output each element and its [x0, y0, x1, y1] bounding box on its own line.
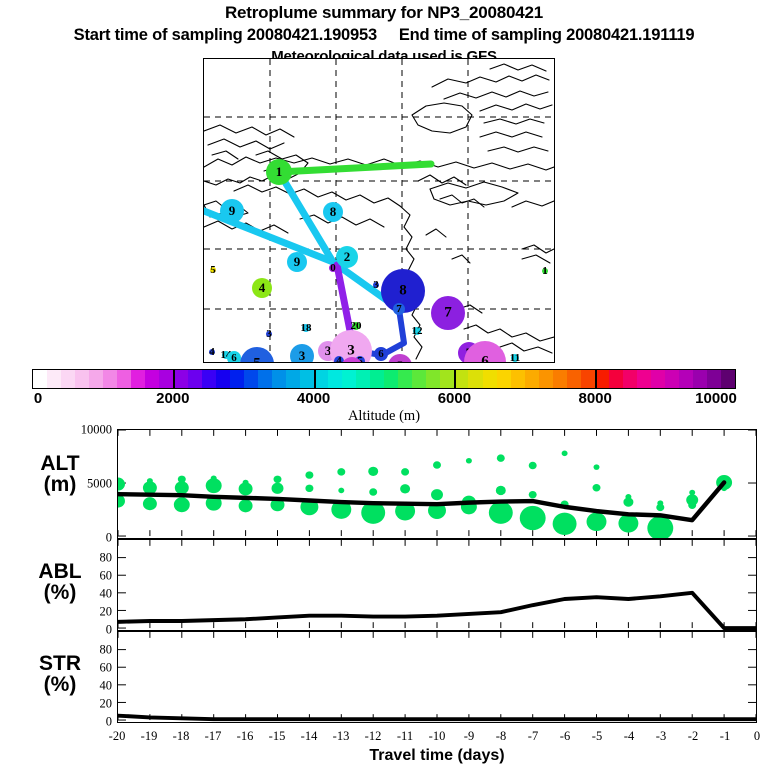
abl-y-tick-label: 60: [54, 569, 112, 584]
str-panel[interactable]: [117, 631, 757, 723]
colorbar-division: [314, 369, 316, 389]
colorbar-swatch: [483, 370, 497, 388]
colorbar-swatch: [47, 370, 61, 388]
colorbar-swatch: [665, 370, 679, 388]
colorbar-swatch: [553, 370, 567, 388]
str-y-tick-label: 20: [54, 697, 112, 712]
colorbar-swatch: [426, 370, 440, 388]
colorbar-swatch: [117, 370, 131, 388]
map-marker-dot: [266, 331, 272, 337]
map-marker-dot: [336, 246, 358, 268]
alt-scatter-blob: [338, 488, 344, 494]
colorbar-swatch: [398, 370, 412, 388]
map-marker-dot: [393, 303, 405, 315]
colorbar-swatch: [145, 370, 159, 388]
alt-scatter-blob: [497, 454, 505, 461]
x-tick-label: -5: [592, 729, 602, 744]
alt-scatter-blob: [272, 483, 284, 494]
map-marker-dot: [431, 296, 465, 330]
colorbar-swatch: [230, 370, 244, 388]
alt-scatter-blob: [529, 462, 537, 469]
alt-scatter-blob: [337, 468, 345, 475]
x-tick-label: -8: [496, 729, 506, 744]
colorbar-swatch: [440, 370, 454, 388]
map-coastlines: [204, 64, 554, 359]
map-marker-dot: [373, 282, 379, 288]
str-y-tick-label: 40: [54, 679, 112, 694]
alt-scatter-blob: [647, 516, 673, 538]
x-tick-label: -13: [333, 729, 350, 744]
str-y-ticks: [118, 650, 756, 720]
x-tick-label: -18: [173, 729, 190, 744]
x-tick-label: -16: [237, 729, 254, 744]
alt-scatter-blob: [657, 500, 663, 506]
abl-plot: [118, 540, 756, 630]
colorbar-swatch: [33, 370, 47, 388]
colorbar-swatch: [497, 370, 511, 388]
alt-scatter-blob: [274, 476, 282, 483]
alt-scatter-blob: [466, 458, 472, 464]
map-gridlines: [204, 59, 554, 362]
colorbar-swatch: [89, 370, 103, 388]
page-title: Retroplume summary for NP3_20080421: [0, 3, 768, 23]
map-canvas: [204, 59, 554, 362]
x-tick-label: -20: [109, 729, 126, 744]
x-tick-label: -3: [656, 729, 666, 744]
colorbar-swatch: [454, 370, 468, 388]
x-tick-label: -11: [397, 729, 413, 744]
colorbar-swatch: [258, 370, 272, 388]
abl-panel[interactable]: [117, 539, 757, 631]
map-marker-dot: [210, 267, 216, 273]
alt-scatter-blob: [489, 502, 513, 524]
colorbar-tick-label: 8000: [579, 390, 612, 407]
colorbar-division: [454, 369, 456, 389]
colorbar-swatch: [173, 370, 187, 388]
colorbar-swatch: [300, 370, 314, 388]
alt-scatter-blob: [239, 499, 253, 512]
colorbar-division: [595, 369, 597, 389]
x-axis-title: Travel time (days): [117, 747, 757, 765]
alt-scatter-blob: [178, 476, 186, 483]
alt-scatter-blob: [625, 494, 631, 500]
x-tick-label: -1: [720, 729, 730, 744]
alt-scatter-blob: [433, 461, 441, 468]
map-marker-dot: [511, 354, 519, 362]
colorbar-swatch: [693, 370, 707, 388]
sampling-times-line: Start time of sampling 20080421.190953 E…: [0, 26, 768, 45]
colorbar-gradient: [32, 369, 736, 389]
alt-scatter-blob: [562, 451, 568, 457]
colorbar-swatch: [286, 370, 300, 388]
map-marker-dot: [352, 322, 360, 330]
alt-scatter-blob: [211, 475, 217, 481]
map-marker-dot: [287, 252, 307, 272]
alt-scatter-blob: [305, 485, 313, 492]
abl-y-tick-label: 40: [54, 587, 112, 602]
alt-scatter-points: [118, 451, 732, 538]
x-tick-label: -2: [688, 729, 698, 744]
alt-scatter-blob: [520, 506, 546, 530]
colorbar-swatch: [314, 370, 328, 388]
altitude-colorbar[interactable]: [32, 369, 736, 389]
colorbar-swatch: [159, 370, 173, 388]
colorbar-swatch: [356, 370, 370, 388]
colorbar-swatch: [511, 370, 525, 388]
colorbar-swatch: [412, 370, 426, 388]
alt-scatter-blob: [594, 464, 600, 470]
alt-scatter-blob: [369, 488, 377, 495]
alt-plot: [118, 430, 756, 538]
alt-scatter-blob: [431, 489, 443, 500]
colorbar-swatch: [525, 370, 539, 388]
alt-panel[interactable]: [117, 429, 757, 539]
alt-scatter-blob: [593, 484, 601, 491]
map-marker-dot: [252, 278, 272, 298]
abl-y-tick-label: 80: [54, 551, 112, 566]
str-x-ticks: [118, 632, 756, 720]
str-plot: [118, 632, 756, 722]
alt-scatter-blob: [147, 478, 153, 484]
colorbar-swatch: [328, 370, 342, 388]
colorbar-swatch: [679, 370, 693, 388]
colorbar-tick-label: 10000: [695, 390, 737, 407]
alt-y-tick-label: 0: [54, 531, 112, 546]
colorbar-swatch: [384, 370, 398, 388]
x-tick-label: -4: [624, 729, 634, 744]
alt-scatter-blob: [368, 467, 378, 476]
colorbar-tick-label: 6000: [438, 390, 471, 407]
alt-label-line1: ALT: [8, 453, 112, 474]
colorbar-swatch: [103, 370, 117, 388]
colorbar-division: [173, 369, 175, 389]
map-marker-dot: [290, 344, 314, 363]
colorbar-swatch: [342, 370, 356, 388]
x-tick-label: -12: [365, 729, 382, 744]
colorbar-tick-label: 0: [34, 390, 42, 407]
alt-scatter-blob: [243, 480, 249, 486]
colorbar-swatch: [131, 370, 145, 388]
colorbar-swatch: [581, 370, 595, 388]
alt-scatter-blob: [118, 478, 125, 491]
colorbar-swatch: [609, 370, 623, 388]
alt-scatter-blob: [401, 468, 409, 475]
colorbar-axis-label: Altitude (m): [0, 408, 768, 425]
colorbar-swatch: [623, 370, 637, 388]
x-tick-label: -15: [269, 729, 286, 744]
x-tick-label: -14: [301, 729, 318, 744]
alt-scatter-blob: [175, 481, 189, 494]
colorbar-swatch: [244, 370, 258, 388]
map-marker-dot: [209, 349, 215, 355]
alt-scatter-blob: [529, 491, 537, 498]
colorbar-swatch: [272, 370, 286, 388]
map-marker-dot: [227, 351, 241, 363]
x-tick-label: -19: [141, 729, 158, 744]
colorbar-swatch: [707, 370, 721, 388]
trajectory-leg-green: [279, 164, 431, 172]
alt-scatter-blob: [553, 513, 577, 535]
colorbar-swatch: [202, 370, 216, 388]
colorbar-swatch: [61, 370, 75, 388]
colorbar-tick-label: 4000: [297, 390, 330, 407]
colorbar-swatch: [651, 370, 665, 388]
str-y-tick-label: 0: [54, 715, 112, 730]
map-marker-dot: [374, 347, 388, 361]
colorbar-swatch: [539, 370, 553, 388]
x-tick-label: -7: [528, 729, 538, 744]
colorbar-swatch: [216, 370, 230, 388]
alt-scatter-blob: [688, 502, 696, 509]
colorbar-tick-label: 2000: [156, 390, 189, 407]
map-marker-dot: [323, 202, 343, 222]
trajectory-paths: [204, 164, 431, 355]
alt-scatter-blob: [689, 490, 695, 496]
colorbar-swatch: [637, 370, 651, 388]
alt-scatter-blob: [587, 512, 607, 531]
abl-y-tick-label: 20: [54, 605, 112, 620]
str-y-tick-label: 80: [54, 643, 112, 658]
alt-scatter-blob: [618, 514, 638, 533]
map-marker-dot: [220, 199, 244, 223]
alt-y-tick-label: 5000: [54, 477, 112, 492]
trajectory-map[interactable]: 19895420381832071241465333456745976111: [203, 58, 555, 363]
map-marker-dot: [266, 159, 292, 185]
alt-scatter-blob: [305, 471, 313, 478]
x-tick-label: -17: [205, 729, 222, 744]
x-tick-label: -6: [560, 729, 570, 744]
alt-y-tick-label: 10000: [54, 423, 112, 438]
alt-scatter-blob: [143, 497, 157, 510]
x-tick-label: -9: [464, 729, 474, 744]
map-marker-dot: [329, 264, 337, 272]
alt-scatter-blob: [400, 484, 410, 493]
colorbar-swatch: [721, 370, 735, 388]
colorbar-swatch: [188, 370, 202, 388]
x-tick-label: -10: [429, 729, 446, 744]
alt-scatter-blob: [174, 497, 190, 512]
str-y-tick-label: 60: [54, 661, 112, 676]
map-marker-dot: [302, 324, 310, 332]
colorbar-swatch: [468, 370, 482, 388]
x-tick-label: 0: [754, 729, 760, 744]
colorbar-swatch: [75, 370, 89, 388]
map-marker-dot: [413, 327, 421, 335]
colorbar-swatch: [567, 370, 581, 388]
colorbar-swatch: [370, 370, 384, 388]
alt-scatter-blob: [496, 486, 506, 495]
abl-y-tick-label: 0: [54, 623, 112, 638]
map-marker-dot: [542, 268, 548, 274]
